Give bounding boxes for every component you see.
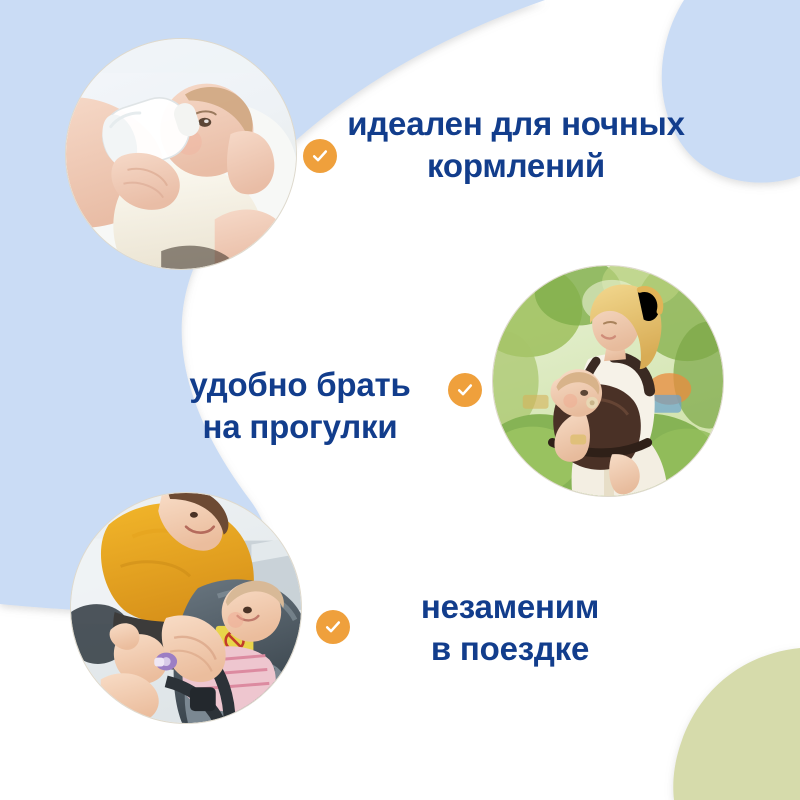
check-badge-travel [316,610,350,644]
caption-walks: удобно брать на прогулки [160,364,440,448]
check-badge-walks [448,373,482,407]
check-circle-icon [455,380,475,400]
mother-baby-carrier-park-photo [493,266,723,496]
check-badge-night-feedings [303,139,337,173]
photo-circle-night-feedings [65,38,297,270]
check-circle-icon [310,146,330,166]
infographic-canvas: идеален для ночных кормлений удобно брат… [0,0,800,800]
photo-circle-walks [492,265,724,497]
baby-bottle-feeding-photo [66,39,296,269]
caption-night-feedings: идеален для ночных кормлений [336,103,696,187]
baby-car-seat-photo [71,493,301,723]
caption-travel: незаменим в поездке [360,586,660,670]
check-circle-icon [323,617,343,637]
photo-circle-travel [70,492,302,724]
bottom-right-olive-blob-shape [673,648,800,800]
